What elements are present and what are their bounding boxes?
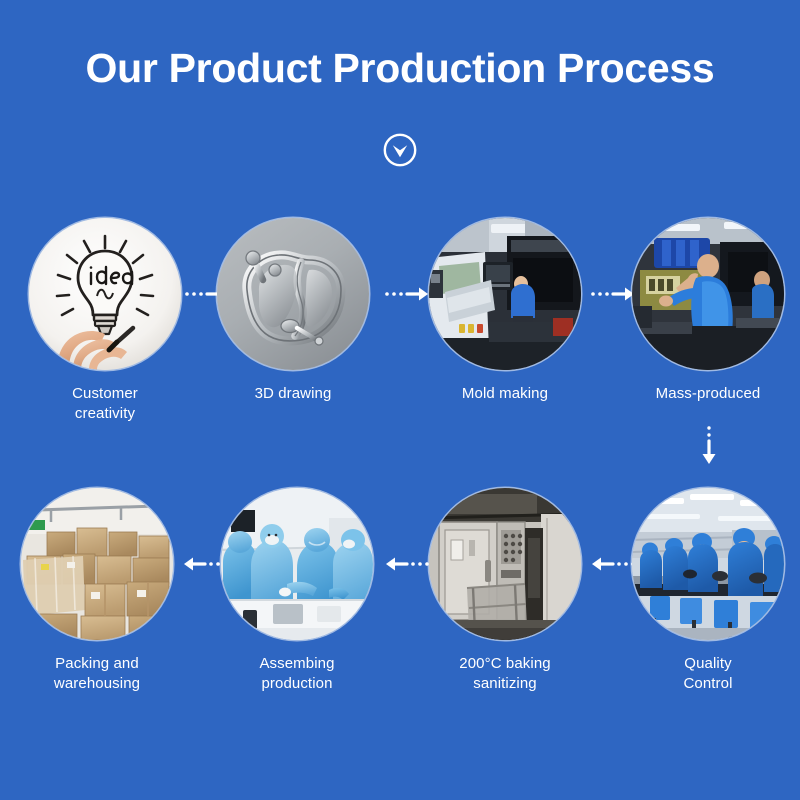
step-image-circle <box>429 218 581 370</box>
cleanroom-assembly-workers-icon <box>221 488 373 640</box>
step-mold-making[interactable]: Mold making <box>420 218 590 404</box>
step-label: Quality Control <box>623 654 793 695</box>
step-label-line: Customer <box>20 384 190 404</box>
step-label-line: Mold making <box>420 384 590 404</box>
hand-drawing-idea-lightbulb-icon <box>29 218 181 370</box>
page-title: Our Product Production Process <box>0 46 800 91</box>
cnc-machine-workshop-icon <box>429 218 581 370</box>
workers-blue-uniform-inspection-line-icon <box>632 488 784 640</box>
step-image-circle <box>217 218 369 370</box>
stacked-cardboard-boxes-warehouse-icon <box>21 488 173 640</box>
step-label: Customer creativity <box>20 384 190 425</box>
step-baking-sanitizing[interactable]: 200°C baking sanitizing <box>420 488 590 695</box>
step-assembing-production[interactable]: Assembing production <box>212 488 382 695</box>
step-image-circle <box>29 218 181 370</box>
step-label-line: warehousing <box>12 674 182 694</box>
step-packing-warehousing[interactable]: Packing and warehousing <box>12 488 182 695</box>
chevron-down-circle-icon <box>382 132 418 168</box>
step-label-line: Control <box>623 674 793 694</box>
step-image-circle <box>632 488 784 640</box>
step-label-line: 3D drawing <box>208 384 378 404</box>
step-customer-creativity[interactable]: Customer creativity <box>20 218 190 425</box>
step-label-line: production <box>212 674 382 694</box>
step-3d-drawing[interactable]: 3D drawing <box>208 218 378 404</box>
step-label-line: Quality <box>623 654 793 674</box>
step-image-circle <box>429 488 581 640</box>
flow-arrow-down-icon <box>697 424 721 470</box>
step-label: 3D drawing <box>208 384 378 404</box>
process-row-top: Customer creativity <box>0 218 800 458</box>
gray-3d-mold-cad-render-icon <box>217 218 369 370</box>
step-label-line: sanitizing <box>420 674 590 694</box>
step-image-circle <box>632 218 784 370</box>
step-label: Packing and warehousing <box>12 654 182 695</box>
infographic-page: Our Product Production Process <box>0 0 800 800</box>
step-label-line: 200°C baking <box>420 654 590 674</box>
step-image-circle <box>221 488 373 640</box>
step-quality-control[interactable]: Quality Control <box>623 488 793 695</box>
step-label-line: Assembing <box>212 654 382 674</box>
worker-blue-shirt-at-machine-icon <box>632 218 784 370</box>
step-image-circle <box>21 488 173 640</box>
step-label: Mass-produced <box>623 384 793 404</box>
step-label: 200°C baking sanitizing <box>420 654 590 695</box>
step-label-line: Packing and <box>12 654 182 674</box>
step-mass-produced[interactable]: Mass-produced <box>623 218 793 404</box>
step-label-line: Mass-produced <box>623 384 793 404</box>
industrial-baking-oven-icon <box>429 488 581 640</box>
step-label: Assembing production <box>212 654 382 695</box>
step-label: Mold making <box>420 384 590 404</box>
step-label-line: creativity <box>20 404 190 424</box>
process-row-bottom: Packing and warehousing <box>0 488 800 728</box>
